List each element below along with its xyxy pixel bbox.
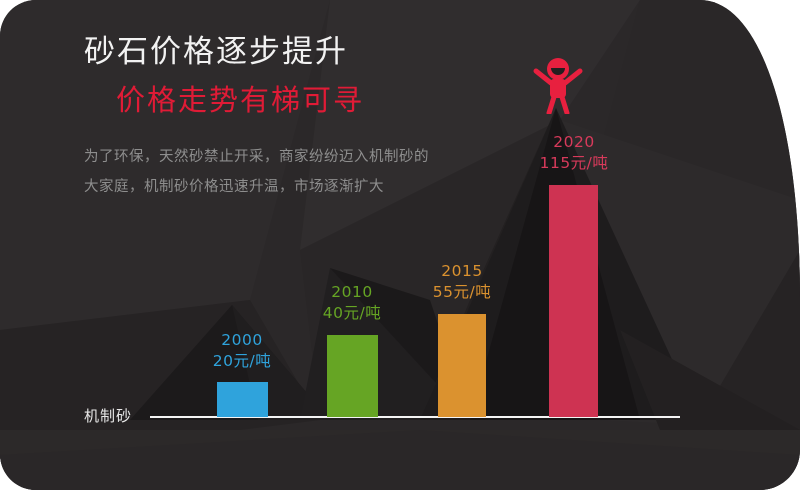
celebrating-person-icon — [530, 52, 586, 114]
bar-label-2015: 2015 55元/吨 — [412, 261, 512, 303]
page-title: 砂石价格逐步提升 — [84, 34, 348, 71]
bar-year-2020: 2020 — [524, 132, 624, 153]
bar-year-2000: 2000 — [192, 330, 292, 351]
bar-value-2015: 55元/吨 — [412, 282, 512, 303]
bar-2000[interactable] — [217, 382, 268, 417]
bar-year-2015: 2015 — [412, 261, 512, 282]
body-paragraph: 为了环保，天然砂禁止开采，商家纷纷迈入机制砂的大家庭，机制砂价格迅速升温，市场逐… — [84, 143, 429, 202]
axis-category-label: 机制砂 — [84, 405, 132, 426]
slide-canvas: 砂石价格逐步提升 价格走势有梯可寻 为了环保，天然砂禁止开采，商家纷纷迈入机制砂… — [0, 0, 800, 490]
bar-2020[interactable] — [549, 185, 598, 417]
page-subtitle: 价格走势有梯可寻 — [116, 83, 364, 118]
bar-value-2020: 115元/吨 — [524, 153, 624, 174]
bar-2015[interactable] — [438, 314, 486, 417]
bar-value-2010: 40元/吨 — [302, 303, 402, 324]
bar-year-2010: 2010 — [302, 282, 402, 303]
bar-value-2000: 20元/吨 — [192, 351, 292, 372]
bar-2010[interactable] — [327, 335, 378, 417]
bar-label-2010: 2010 40元/吨 — [302, 282, 402, 324]
bar-label-2000: 2000 20元/吨 — [192, 330, 292, 372]
bar-label-2020: 2020 115元/吨 — [524, 132, 624, 174]
